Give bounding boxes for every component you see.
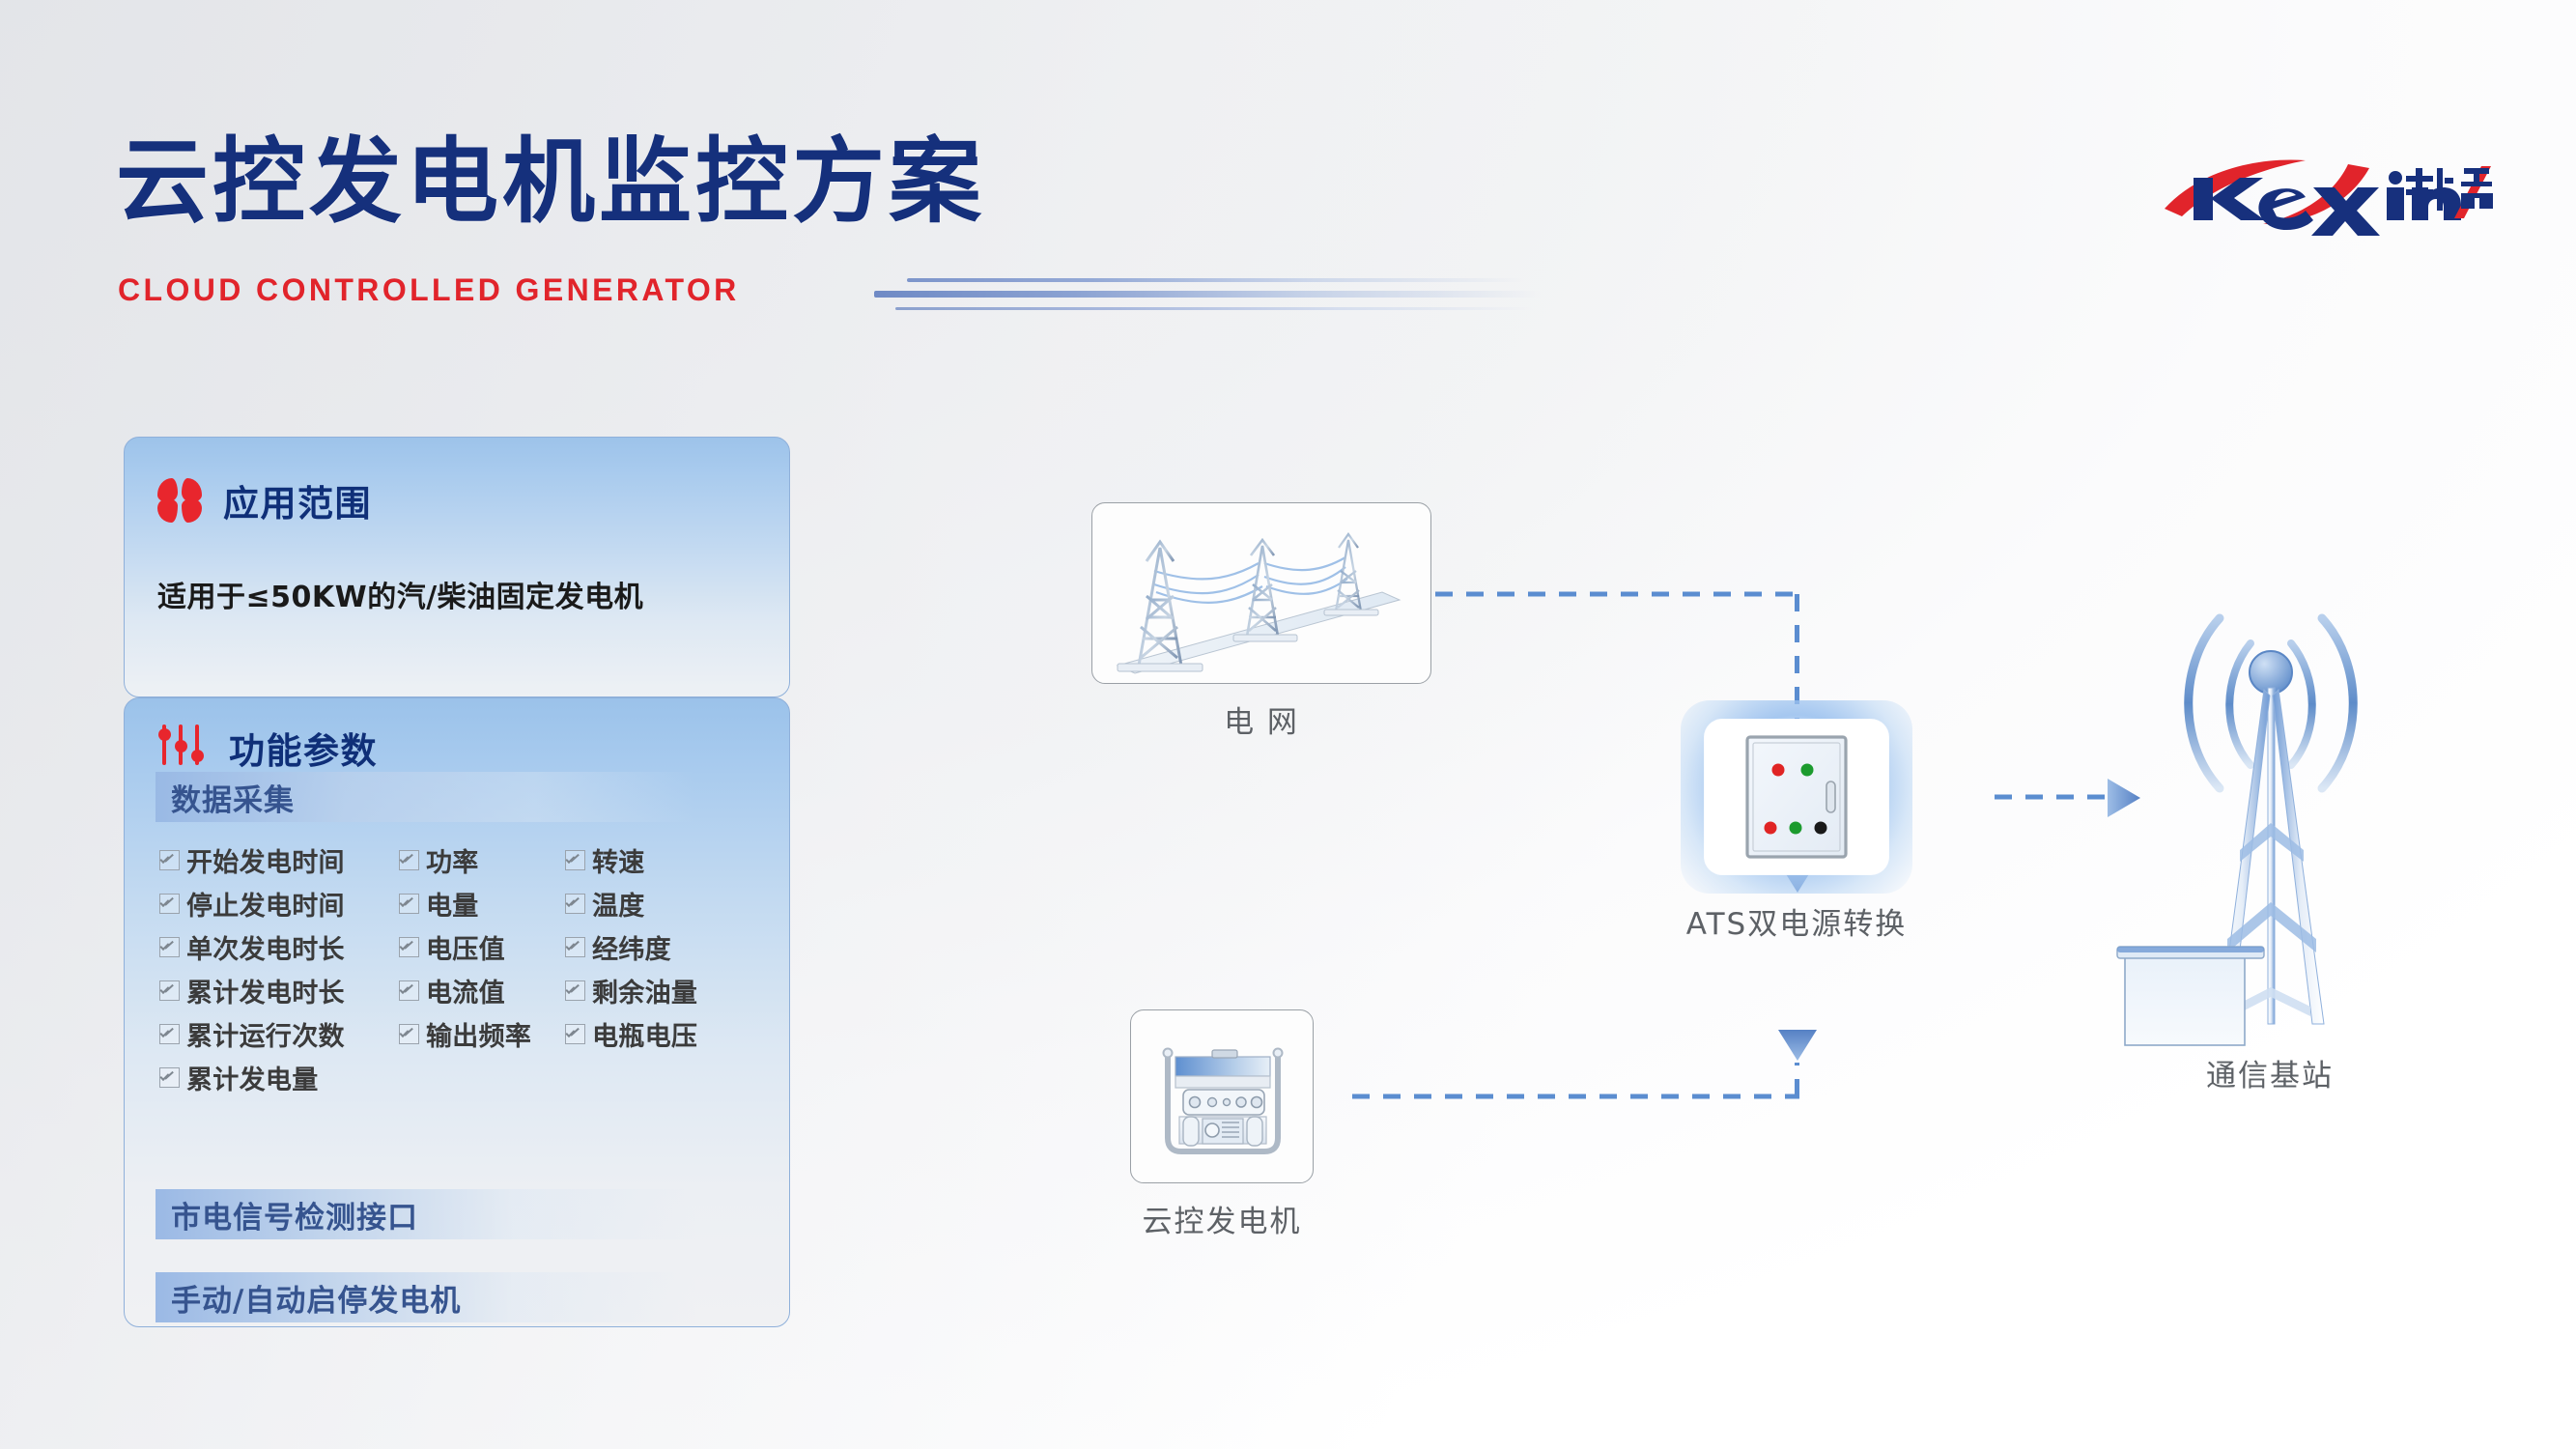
checkbox-icon[interactable] (159, 1024, 180, 1044)
features-card-header: 功能参数 (157, 722, 378, 774)
scope-card-title: 应用范围 (223, 474, 372, 526)
checklist-item[interactable]: 电量 (399, 885, 565, 923)
checklist-row: 累计运行次数 输出频率 电瓶电压 (159, 1015, 739, 1059)
checklist-item[interactable]: 剩余油量 (565, 972, 739, 1009)
checkbox-icon[interactable] (565, 980, 585, 1001)
section-manual-auto-start-stop: 手动/自动启停发电机 (156, 1272, 696, 1322)
checkbox-icon[interactable] (399, 1024, 419, 1044)
data-collection-checklist: 开始发电时间 功率 转速 停止发电时间 电量 温度 单次发电时长 电压值 经纬度… (159, 841, 739, 1102)
checklist-item[interactable]: 累计运行次数 (159, 1015, 399, 1053)
checklist-item[interactable]: 累计发电量 (159, 1059, 399, 1096)
sliders-icon (157, 724, 208, 771)
power-grid-icon (1092, 503, 1431, 684)
features-card-title: 功能参数 (229, 722, 378, 774)
section-mains-signal-interface: 市电信号检测接口 (156, 1189, 696, 1239)
led-red-top (1772, 764, 1785, 777)
feature-parameters-card: 功能参数 数据采集 开始发电时间 功率 转速 停止发电时间 电量 温度 单次发电… (124, 697, 790, 1327)
checklist-item[interactable]: 转速 (565, 841, 739, 879)
node-ats[interactable]: ATS双电源转换 (1681, 700, 1912, 894)
connector-generator-to-ats (1352, 1030, 1817, 1096)
checklist-item[interactable]: 开始发电时间 (159, 841, 399, 879)
led-green-top (1801, 764, 1814, 777)
checklist-item[interactable]: 功率 (399, 841, 565, 879)
decor-line-2 (874, 291, 1541, 298)
ats-cabinet-card[interactable] (1705, 720, 1888, 874)
checklist-item[interactable]: 累计发电时长 (159, 972, 399, 1009)
checklist-item[interactable]: 电流值 (399, 972, 565, 1009)
checkbox-icon[interactable] (159, 894, 180, 914)
decor-line-1 (907, 278, 1525, 282)
generator-card[interactable] (1130, 1009, 1314, 1183)
checkbox-icon[interactable] (565, 1024, 585, 1044)
ats-handle (1826, 781, 1835, 812)
checkbox-icon[interactable] (565, 850, 585, 870)
checklist-item[interactable]: 停止发电时间 (159, 885, 399, 923)
node-label-base-station: 通信基站 (2106, 1051, 2434, 1094)
checklist-item[interactable]: 输出频率 (399, 1015, 565, 1053)
led-red-bottom (1765, 822, 1777, 835)
node-base-station[interactable]: 通信基站 (2106, 570, 2434, 1077)
checkbox-icon[interactable] (565, 894, 585, 914)
checkbox-icon[interactable] (159, 850, 180, 870)
generator-icon (1131, 1010, 1314, 1183)
system-diagram: 电 网 (1091, 464, 2463, 1198)
checklist-row: 累计发电时长 电流值 剩余油量 (159, 972, 739, 1015)
checkbox-icon[interactable] (565, 937, 585, 957)
page-title: 云控发电机监控方案 (116, 135, 985, 228)
checkbox-icon[interactable] (159, 980, 180, 1001)
node-label-generator: 云控发电机 (1072, 1197, 1372, 1240)
decor-line-3 (895, 307, 1533, 310)
brand-logo: . (2159, 155, 2497, 238)
application-scope-card: 应用范围 适用于≤50KW的汽/柴油固定发电机 (124, 437, 790, 697)
checkbox-icon[interactable] (399, 894, 419, 914)
scope-card-body: 适用于≤50KW的汽/柴油固定发电机 (157, 573, 643, 615)
checklist-row: 停止发电时间 电量 温度 (159, 885, 739, 928)
section-data-collection: 数据采集 (156, 772, 696, 822)
checklist-row: 累计发电量 (159, 1059, 739, 1102)
led-black-bottom (1815, 822, 1827, 835)
checkbox-icon[interactable] (159, 937, 180, 957)
node-label-ats: ATS双电源转换 (1623, 899, 1970, 943)
led-green-bottom (1790, 822, 1802, 835)
page-subtitle: CLOUD CONTROLLED GENERATOR (118, 272, 740, 308)
checkbox-icon[interactable] (399, 937, 419, 957)
power-grid-card[interactable] (1091, 502, 1431, 684)
checkbox-icon[interactable] (399, 850, 419, 870)
scope-card-header: 应用范围 (157, 474, 372, 526)
page-header: 云控发电机监控方案 CLOUD CONTROLLED GENERATOR (0, 0, 2576, 348)
checklist-item[interactable]: 单次发电时长 (159, 928, 399, 966)
node-generator[interactable]: 云控发电机 (1130, 1009, 1314, 1183)
node-power-grid[interactable]: 电 网 (1091, 502, 1431, 684)
checkbox-icon[interactable] (159, 1067, 180, 1088)
arrow-up-icon (1778, 1030, 1817, 1061)
checklist-row: 单次发电时长 电压值 经纬度 (159, 928, 739, 972)
ats-cabinet-icon (1705, 720, 1888, 874)
checklist-item[interactable]: 电压值 (399, 928, 565, 966)
checklist-item[interactable]: 电瓶电压 (565, 1015, 739, 1053)
clover-icon (157, 478, 202, 523)
checkbox-icon[interactable] (399, 980, 419, 1001)
left-info-panel: 应用范围 适用于≤50KW的汽/柴油固定发电机 功能参数 数据采集 开始发电时间… (124, 437, 790, 1325)
title-decorative-lines (874, 278, 1550, 317)
checklist-item[interactable]: 经纬度 (565, 928, 739, 966)
checklist-item[interactable]: 温度 (565, 885, 739, 923)
node-label-power-grid: 电 网 (1091, 697, 1431, 741)
cell-tower-icon (2106, 570, 2434, 1072)
checklist-row: 开始发电时间 功率 转速 (159, 841, 739, 885)
